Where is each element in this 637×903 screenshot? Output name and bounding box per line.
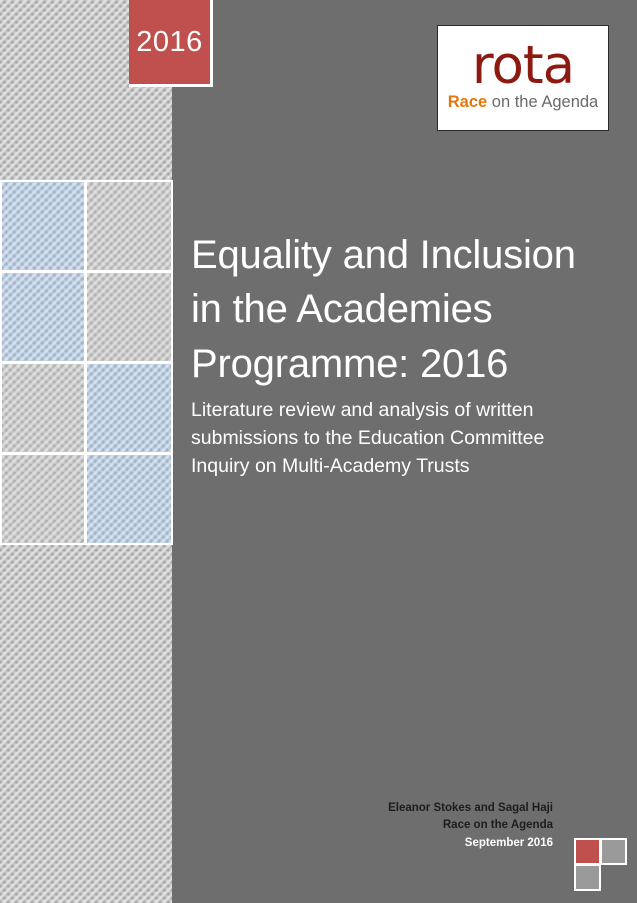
checker-cell: [0, 453, 86, 545]
checker-cell: [0, 271, 86, 363]
rota-tagline: Race on the Agenda: [448, 94, 598, 111]
rota-tagline-rest: on the Agenda: [487, 93, 598, 111]
checkerboard-decoration: [0, 180, 172, 546]
motif-cell: [600, 838, 627, 865]
author-names: Eleanor Stokes and Sagal Haji: [388, 800, 553, 817]
title-block: Equality and Inclusion in the Academies …: [191, 228, 611, 481]
checker-cell: [85, 362, 173, 454]
rota-tagline-highlight: Race: [448, 93, 487, 111]
year-badge: 2016: [129, 0, 213, 87]
author-block: Eleanor Stokes and Sagal Haji Race on th…: [388, 800, 553, 852]
publication-date: September 2016: [388, 835, 553, 852]
page-subtitle: Literature review and analysis of writte…: [191, 397, 583, 481]
checker-cell: [0, 362, 86, 454]
page-title: Equality and Inclusion in the Academies …: [191, 228, 611, 391]
page-title-line-2: in the Academies: [191, 282, 611, 336]
checker-cell: [85, 180, 173, 272]
checker-cell: [0, 180, 86, 272]
year-badge-label: 2016: [136, 26, 203, 59]
checker-cell: [85, 271, 173, 363]
page-title-line-1: Equality and Inclusion: [191, 228, 611, 282]
motif-cell: [574, 838, 601, 865]
page-title-line-3: Programme: 2016: [191, 337, 611, 391]
author-organisation: Race on the Agenda: [388, 817, 553, 834]
corner-square-motif: [574, 838, 628, 892]
motif-cell: [574, 864, 601, 891]
rota-wordmark: rota: [472, 41, 574, 91]
document-cover-page: 2016 rota Race on the Agenda Equality an…: [0, 0, 637, 903]
rota-logo: rota Race on the Agenda: [437, 25, 609, 131]
checker-cell: [85, 453, 173, 545]
